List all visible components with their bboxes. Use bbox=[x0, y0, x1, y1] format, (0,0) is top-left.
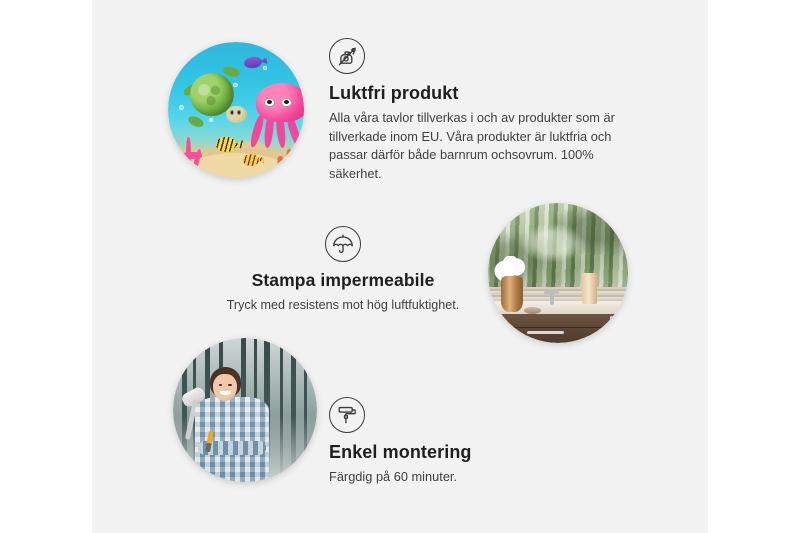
feature-easy-mount: Enkel montering Färgdig på 60 minuter. bbox=[329, 397, 589, 487]
coral-illustration bbox=[286, 149, 293, 175]
umbrella-icon bbox=[325, 226, 361, 262]
octopus-illustration bbox=[250, 83, 304, 146]
feature-body: Alla våra tavlor tillverkas i och av pro… bbox=[329, 109, 617, 183]
bubble-icon bbox=[263, 66, 267, 70]
turtle-illustration bbox=[186, 69, 246, 126]
woman-paint-roller-forest-photo bbox=[173, 338, 317, 482]
wood-vanity-cabinet bbox=[488, 314, 628, 343]
woman-figure bbox=[193, 367, 271, 482]
soap-dish bbox=[524, 307, 541, 314]
coral-illustration bbox=[186, 137, 191, 175]
yellow-fish-icon bbox=[216, 137, 236, 152]
feature-title: Enkel montering bbox=[329, 442, 589, 463]
underwater-cartoon-photo bbox=[168, 42, 304, 178]
feature-title: Stampa impermeabile bbox=[198, 270, 488, 291]
feature-title: Luktfri produkt bbox=[329, 83, 629, 104]
yellow-fish-icon bbox=[243, 154, 259, 166]
gold-vase bbox=[501, 276, 523, 312]
product-feature-banner: Luktfri produkt Alla våra tavlor tillver… bbox=[0, 0, 800, 533]
no-fragrance-icon bbox=[329, 38, 365, 74]
feature-odourless: Luktfri produkt Alla våra tavlor tillver… bbox=[329, 38, 629, 183]
feature-waterproof: Stampa impermeabile Tryck med resistens … bbox=[198, 226, 488, 314]
paint-roller-icon bbox=[329, 397, 365, 433]
tropical-bathroom-photo bbox=[488, 203, 628, 343]
soap-dispenser bbox=[582, 273, 597, 304]
feature-body: Färgdig på 60 minuter. bbox=[329, 468, 589, 487]
bubble-icon bbox=[179, 105, 184, 110]
feature-body: Tryck med resistens mot hög luftfuktighe… bbox=[198, 296, 488, 314]
purple-fish-icon bbox=[243, 56, 262, 69]
faucet bbox=[550, 291, 554, 305]
